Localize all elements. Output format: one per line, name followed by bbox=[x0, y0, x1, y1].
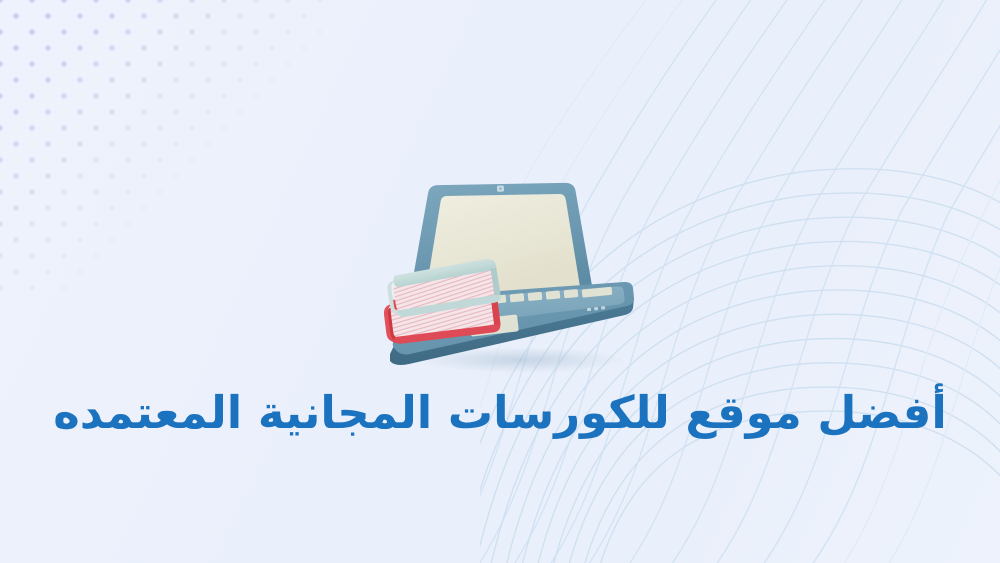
laptop-with-books-illustration bbox=[381, 178, 643, 380]
course-banner: أفضل موقع للكورسات المجانية المعتمده bbox=[0, 0, 1000, 563]
headline: أفضل موقع للكورسات المجانية المعتمده bbox=[0, 382, 1000, 444]
dotted-grid-pattern bbox=[0, 0, 330, 300]
webcam-icon bbox=[497, 185, 504, 191]
headline-text: أفضل موقع للكورسات المجانية المعتمده bbox=[53, 388, 947, 438]
